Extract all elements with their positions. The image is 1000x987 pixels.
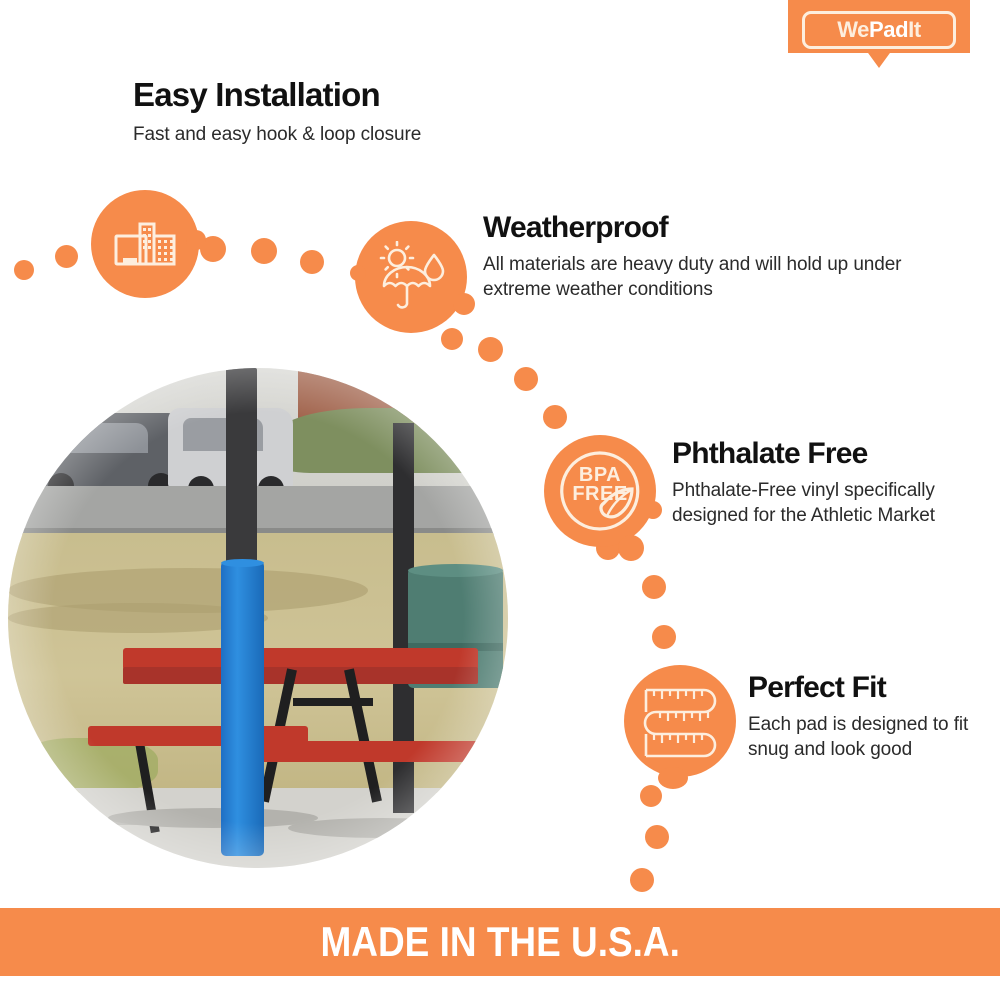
- feature-weatherproof: Weatherproof All materials are heavy dut…: [483, 212, 903, 302]
- trail-dot: [543, 405, 567, 429]
- logo-wordmark: WePadIt: [837, 19, 921, 41]
- feature-description: Fast and easy hook & loop closure: [133, 122, 553, 147]
- bpa-free-leaf-icon: BPA FREE: [544, 435, 656, 547]
- feature-title: Phthalate Free: [672, 438, 972, 470]
- banner-text: MADE IN THE U.S.A.: [320, 918, 679, 966]
- trail-dot: [640, 785, 662, 807]
- sun-umbrella-rain-icon: [355, 221, 467, 333]
- trail-dot: [645, 825, 669, 849]
- trail-dot: [441, 328, 463, 350]
- logo-word-it: It: [908, 17, 921, 42]
- tape-measure-icon: [624, 665, 736, 777]
- trail-dot: [251, 238, 277, 264]
- feature-perfect-fit: Perfect Fit Each pad is designed to fit …: [748, 672, 988, 762]
- brand-logo[interactable]: WePadIt: [788, 0, 970, 68]
- product-photo: [8, 368, 508, 868]
- trail-dot: [478, 337, 503, 362]
- trail-dot: [300, 250, 324, 274]
- trail-dot: [55, 245, 78, 268]
- trail-dot: [630, 868, 654, 892]
- logo-word-we: We: [837, 17, 869, 42]
- feature-description: Each pad is designed to fit snug and loo…: [748, 712, 988, 762]
- feature-description: Phthalate-Free vinyl specifically design…: [672, 478, 972, 528]
- bpa-label-line2: FREE: [572, 483, 627, 505]
- trail-dot: [652, 625, 676, 649]
- bpa-free-label: BPA FREE: [554, 466, 646, 504]
- infographic-canvas: WePadIt Easy Installation Fast and easy …: [0, 0, 1000, 987]
- feature-title: Perfect Fit: [748, 672, 988, 704]
- feature-phthalate-free: Phthalate Free Phthalate-Free vinyl spec…: [672, 438, 972, 528]
- feature-description: All materials are heavy duty and will ho…: [483, 252, 903, 302]
- trail-dot: [514, 367, 538, 391]
- logo-outline-box: WePadIt: [802, 11, 956, 49]
- feature-title: Weatherproof: [483, 212, 903, 244]
- trail-dot: [642, 575, 666, 599]
- feature-easy-installation: Easy Installation Fast and easy hook & l…: [133, 78, 553, 147]
- feature-title: Easy Installation: [133, 78, 553, 113]
- made-in-usa-banner: MADE IN THE U.S.A.: [0, 908, 1000, 976]
- trail-dot: [14, 260, 34, 280]
- logo-word-pad: Pad: [869, 17, 908, 42]
- building-icon: [91, 190, 199, 298]
